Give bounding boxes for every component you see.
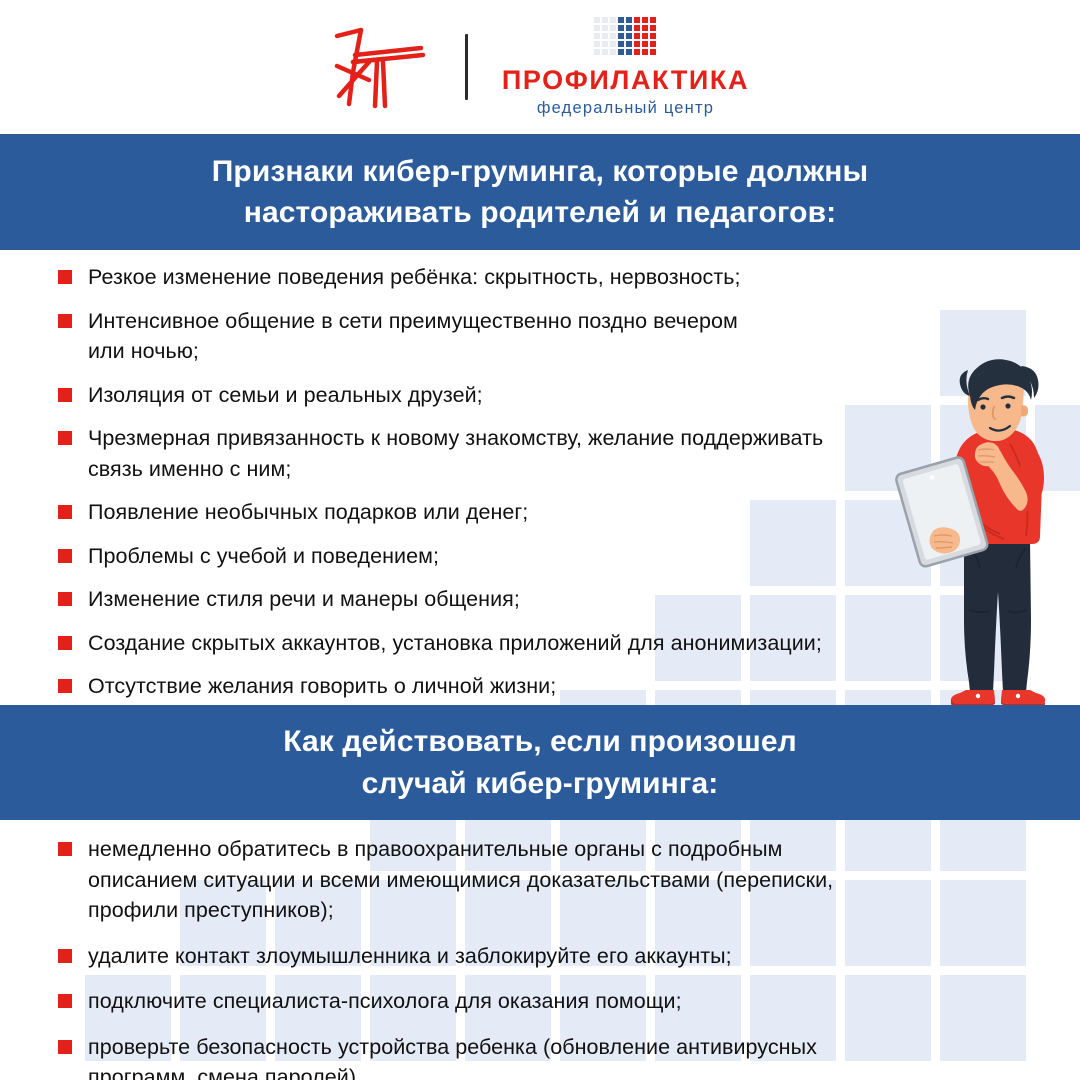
list-item: Проблемы с учебой и поведением; [0, 541, 1080, 572]
square-bullet-icon [58, 592, 72, 606]
list-item: проверьте безопасность устройства ребенк… [0, 1032, 1080, 1080]
brand-block: ПРОФИЛАКТИКА федеральный центр [502, 17, 749, 117]
list-item: Отсутствие желания говорить о личной жиз… [0, 671, 1080, 702]
list-item: немедленно обратитесь в правоохранительн… [0, 834, 1080, 926]
list-item: Появление необычных подарков или денег; [0, 497, 1080, 528]
list-item-text: немедленно обратитесь в правоохранительн… [88, 834, 988, 926]
square-bullet-icon [58, 842, 72, 856]
list-item: подключите специалиста-психолога для ока… [0, 986, 1080, 1017]
list-item-text: удалите контакт злоумышленника и заблоки… [88, 941, 988, 972]
list-item-text: Проблемы с учебой и поведением; [88, 541, 988, 572]
square-bullet-icon [58, 679, 72, 693]
actions-banner: Как действовать, если произошел случай к… [0, 705, 1080, 820]
actions-list: немедленно обратитесь в правоохранительн… [0, 820, 1080, 1080]
list-item: Интенсивное общение в сети преимуществен… [0, 306, 1080, 367]
list-item-text: Создание скрытых аккаунтов, установка пр… [88, 628, 988, 659]
list-item-text: Чрезмерная привязанность к новому знаком… [88, 423, 988, 484]
square-bullet-icon [58, 270, 72, 284]
brand-subtitle: федеральный центр [537, 100, 714, 117]
square-bullet-icon [58, 1040, 72, 1054]
list-item-text: Изоляция от семьи и реальных друзей; [88, 380, 988, 411]
square-bullet-icon [58, 994, 72, 1008]
list-item: Чрезмерная привязанность к новому знаком… [0, 423, 1080, 484]
list-item: Изоляция от семьи и реальных друзей; [0, 380, 1080, 411]
flag-grid-logo [594, 17, 658, 61]
list-item-text: проверьте безопасность устройства ребенк… [88, 1032, 988, 1080]
square-bullet-icon [58, 388, 72, 402]
logo-divider [465, 34, 468, 100]
list-item: Резкое изменение поведения ребёнка: скры… [0, 262, 1080, 293]
list-item-text: Интенсивное общение в сети преимуществен… [88, 306, 988, 367]
list-item: Создание скрытых аккаунтов, установка пр… [0, 628, 1080, 659]
list-item-text: Отсутствие желания говорить о личной жиз… [88, 671, 988, 702]
brand-title: ПРОФИЛАКТИКА [502, 67, 749, 94]
infographic-poster: ПРОФИЛАКТИКА федеральный центр Признаки … [0, 0, 1080, 1080]
list-item-text: Появление необычных подарков или денег; [88, 497, 988, 528]
signs-banner-title: Признаки кибер-груминга, которые должны … [152, 151, 929, 234]
square-bullet-icon [58, 314, 72, 328]
header-logo-bar: ПРОФИЛАКТИКА федеральный центр [0, 0, 1080, 134]
list-item: Изменение стиля речи и манеры общения; [0, 584, 1080, 615]
square-bullet-icon [58, 949, 72, 963]
actions-banner-title: Как действовать, если произошел случай к… [223, 721, 857, 804]
square-bullet-icon [58, 636, 72, 650]
signs-banner: Признаки кибер-груминга, которые должны … [0, 134, 1080, 250]
square-bullet-icon [58, 549, 72, 563]
square-bullet-icon [58, 431, 72, 445]
list-item-text: Резкое изменение поведения ребёнка: скры… [88, 262, 988, 293]
list-item-text: Изменение стиля речи и манеры общения; [88, 584, 988, 615]
list-item-text: подключите специалиста-психолога для ока… [88, 986, 988, 1017]
list-item: удалите контакт злоумышленника и заблоки… [0, 941, 1080, 972]
square-bullet-icon [58, 505, 72, 519]
chair-line-art-logo [331, 22, 439, 112]
